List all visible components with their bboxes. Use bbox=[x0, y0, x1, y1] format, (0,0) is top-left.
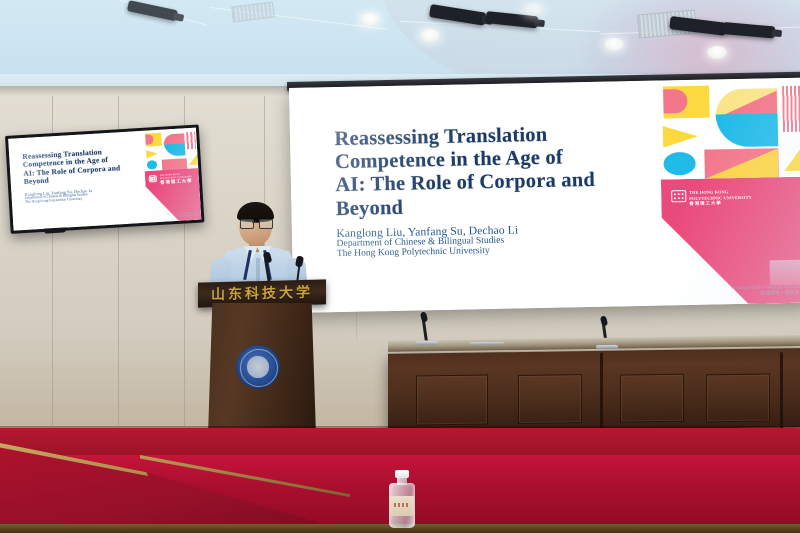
recessed-downlight bbox=[707, 46, 727, 59]
deco-cyan-ellipse bbox=[663, 152, 696, 175]
deco-yellow-corner-triangle bbox=[784, 140, 800, 172]
university-crest-ring bbox=[240, 349, 278, 387]
glasses-lens-left bbox=[240, 219, 254, 229]
projection-screen[interactable]: Reassessing Translation Competence in th… bbox=[289, 78, 800, 313]
microphone-base bbox=[596, 345, 618, 349]
table-panel bbox=[706, 374, 770, 423]
slide-tagline: Opening Minds • Shaping the Future 启迪思维 … bbox=[731, 285, 800, 299]
conference-table-front bbox=[388, 348, 800, 433]
slide-decoration-side bbox=[142, 128, 198, 173]
deco-pink-semicircle bbox=[663, 89, 687, 113]
polyu-logo-text: THE HONG KONG POLYTECHNIC UNIVERSITY 香港理… bbox=[689, 189, 752, 206]
recessed-downlight bbox=[604, 38, 624, 51]
podium-university-name: 山东科技大学 bbox=[198, 281, 326, 304]
water-bottle bbox=[388, 470, 416, 528]
recessed-downlight bbox=[524, 3, 544, 16]
tagline-line-2: 启迪思维 • 成就未来 bbox=[731, 291, 800, 299]
glasses-lens-right bbox=[259, 219, 273, 229]
slide-logo-panel: THE HONG KONG POLYTECHNIC UNIVERSITY 香港理… bbox=[661, 177, 800, 306]
slide-authors: Kanglong Liu, Yanfang Su, Dechao Li Depa… bbox=[336, 221, 657, 259]
table-panel bbox=[416, 374, 488, 425]
deco-stripes bbox=[782, 86, 800, 132]
microphone-base bbox=[416, 341, 438, 345]
slide-authors-side: Kanglong Liu, Yanfang Su, Dechao Li Depa… bbox=[25, 186, 142, 204]
slide-faint-panel bbox=[770, 260, 800, 286]
slide-title: Reassessing Translation Competence in th… bbox=[334, 121, 687, 221]
table-panel bbox=[620, 374, 684, 423]
polyu-mark-icon bbox=[149, 175, 157, 182]
slide-title-side: Reassessing Translation Competence in th… bbox=[22, 146, 140, 187]
deco-yellow-triangle bbox=[662, 125, 698, 147]
table-divider bbox=[600, 353, 603, 430]
table-divider bbox=[780, 352, 783, 428]
polyu-logo: THE HONG KONG POLYTECHNIC UNIVERSITY 香港理… bbox=[671, 189, 752, 207]
slide-decoration bbox=[659, 78, 800, 184]
slide-logo-panel-side: THE HONG KONG POLYTECHNIC UNIVERSITY 香港理… bbox=[145, 168, 202, 223]
table-nameplate bbox=[470, 342, 504, 345]
presentation-slide: Reassessing Translation Competence in th… bbox=[289, 78, 800, 313]
bottle-label bbox=[390, 496, 414, 516]
bottle-cap bbox=[395, 470, 409, 478]
recessed-downlight bbox=[420, 29, 440, 42]
secondary-display[interactable]: Reassessing Translation Competence in th… bbox=[5, 124, 204, 233]
recessed-downlight bbox=[360, 13, 380, 26]
glasses-bridge bbox=[252, 222, 259, 223]
presentation-room-photo: Reassessing Translation Competence in th… bbox=[0, 0, 800, 533]
speaker-glasses bbox=[240, 219, 271, 227]
table-panel bbox=[518, 374, 582, 424]
polyu-mark-icon bbox=[671, 190, 686, 202]
slide-duplicate: Reassessing Translation Competence in th… bbox=[8, 128, 201, 231]
